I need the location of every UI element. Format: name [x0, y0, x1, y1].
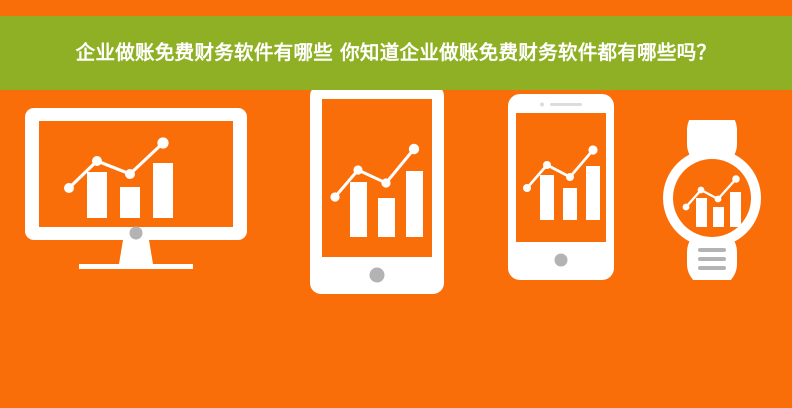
tablet-icon	[310, 85, 444, 294]
smartwatch-icon	[660, 120, 764, 280]
page-title: 企业做账免费财务软件有哪些 你知道企业做账免费财务软件都有哪些吗？	[18, 38, 774, 68]
promo-banner-card: 企业做账免费财务软件有哪些 你知道企业做账免费财务软件都有哪些吗？	[0, 0, 792, 408]
desktop-monitor-icon	[25, 108, 247, 278]
title-banner: 企业做账免费财务软件有哪些 你知道企业做账免费财务软件都有哪些吗？	[0, 16, 792, 90]
smartphone-icon	[508, 94, 614, 280]
